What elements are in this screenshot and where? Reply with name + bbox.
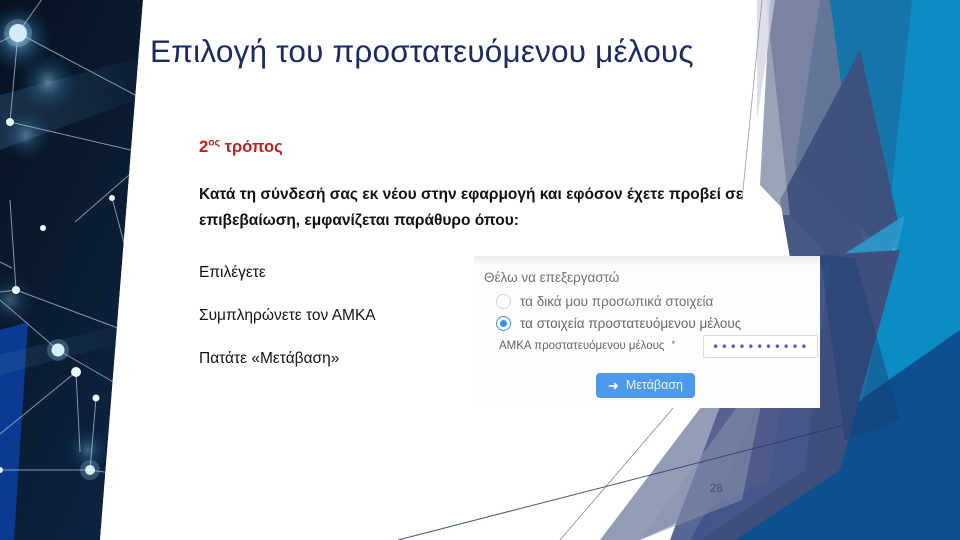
network-graphic	[0, 0, 156, 540]
list-item: Επιλέγετε	[199, 264, 266, 282]
radio-option-label: τα στοιχεία προστατευόμενου μέλους	[520, 316, 741, 331]
embedded-app-screenshot: Θέλω να επεξεργαστώ τα δικά μου προσωπικ…	[474, 256, 820, 408]
subheading-word: τρόπος	[220, 138, 283, 156]
slide: Επιλογή του προστατευόμενου μέλους 2ος τ…	[0, 0, 960, 540]
amka-input[interactable]: •••••••••••	[703, 335, 818, 358]
subheading: 2ος τρόπος	[199, 138, 283, 157]
radio-option-protected-member-data[interactable]: τα στοιχεία προστατευόμενου μέλους	[496, 316, 741, 331]
radio-icon[interactable]	[496, 294, 511, 309]
arrow-right-icon: ➜	[608, 379, 619, 392]
amka-input-value: •••••••••••	[712, 341, 809, 353]
form-question-label: Θέλω να επεξεργαστώ	[484, 270, 619, 285]
list-item: Πατάτε «Μετάβαση»	[199, 350, 339, 368]
submit-button[interactable]: ➜ Μετάβαση	[596, 373, 695, 398]
radio-option-label: τα δικά μου προσωπικά στοιχεία	[520, 294, 713, 309]
radio-icon-selected[interactable]	[496, 316, 511, 331]
subheading-number: 2	[199, 138, 208, 156]
page-number: 28	[710, 483, 723, 495]
subheading-superscript: ος	[208, 137, 220, 149]
radio-option-own-data[interactable]: τα δικά μου προσωπικά στοιχεία	[496, 294, 713, 309]
submit-button-label: Μετάβαση	[626, 379, 683, 392]
amka-label: ΑΜΚΑ προστατευόμενου μέλους	[499, 340, 664, 352]
amka-field-label-group: ΑΜΚΑ προστατευόμενου μέλους *	[499, 340, 675, 352]
list-item: Συμπληρώνετε τον ΑΜΚΑ	[199, 307, 376, 325]
body-paragraph: Κατά τη σύνδεσή σας εκ νέου στην εφαρμογ…	[199, 182, 837, 234]
page-title: Επιλογή του προστατευόμενου μέλους	[150, 33, 850, 70]
required-asterisk-icon: *	[671, 339, 675, 349]
